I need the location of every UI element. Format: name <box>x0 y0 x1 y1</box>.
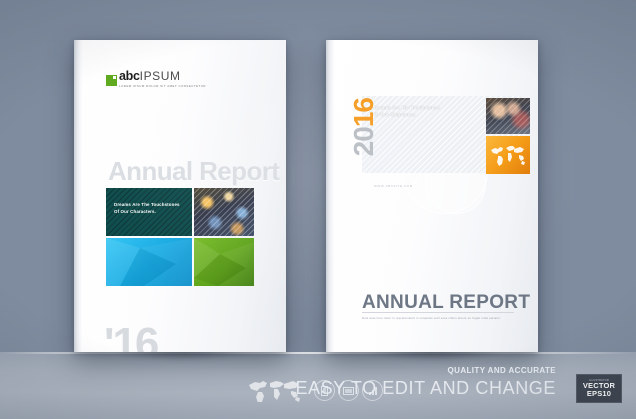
tile-caption-line1: Dreams Are The Touchstones <box>114 202 186 209</box>
cyan-polygon-tile[interactable] <box>106 238 192 286</box>
logo-wordmark: abcIPSUM LOREM IPSUM DOLOR SIT AMET CONS… <box>119 68 206 88</box>
tile-caption-line2: Of Our Characters. <box>114 209 186 216</box>
brand-logo: abcIPSUM LOREM IPSUM DOLOR SIT AMET CONS… <box>106 68 206 88</box>
left-cover-title: Annual Report <box>108 156 279 187</box>
banner-line-2: EASY TO EDIT AND CHANGE <box>295 378 556 399</box>
right-caption-line1: Dreams Are The Touchstones <box>374 104 456 111</box>
people-photo-tile[interactable] <box>486 98 530 134</box>
left-cover-year-mark: '16 <box>104 322 157 352</box>
logo-name-light: IPSUM <box>140 69 181 83</box>
promo-banner: QUALITY AND ACCURATE EASY TO EDIT AND CH… <box>236 366 628 408</box>
left-cover-tile-grid: Dreams Are The Touchstones Of Our Charac… <box>106 188 254 286</box>
left-book-spine <box>74 40 83 352</box>
city-photo-tile[interactable] <box>194 188 254 236</box>
world-map-icon <box>486 136 530 174</box>
logo-mark-icon <box>106 75 117 86</box>
right-cover-face: 2016 Dreams Are The Touchstones Of Our C… <box>326 40 538 352</box>
polygon-pattern-icon <box>106 238 192 286</box>
orange-worldmap-tile[interactable] <box>486 136 530 174</box>
banner-line-1: QUALITY AND ACCURATE <box>448 366 556 375</box>
green-polygon-tile[interactable] <box>194 238 254 286</box>
left-cover-face: abcIPSUM LOREM IPSUM DOLOR SIT AMET CONS… <box>74 40 286 352</box>
tile-stripe-overlay <box>194 188 254 236</box>
right-cover-caption: Dreams Are The Touchstones Of Our Charac… <box>374 104 456 118</box>
right-book-spine <box>326 40 335 352</box>
logo-name-bold: abc <box>119 69 140 83</box>
year-prefix: 20 <box>348 127 379 156</box>
website-url: WWW.ABCSITE.COM <box>374 184 413 188</box>
right-cover-headline: ANNUAL REPORT <box>362 292 530 314</box>
tile-stripe-overlay <box>486 98 530 134</box>
logo-tagline: LOREM IPSUM DOLOR SIT AMET CONSECTETUR <box>119 85 206 88</box>
right-cover-book[interactable]: 2016 Dreams Are The Touchstones Of Our C… <box>326 40 538 352</box>
scene: abcIPSUM LOREM IPSUM DOLOR SIT AMET CONS… <box>0 0 636 419</box>
vector-eps-badge: ILLUSTRATOR VECTOR EPS10 <box>576 374 622 403</box>
left-cover-book[interactable]: abcIPSUM LOREM IPSUM DOLOR SIT AMET CONS… <box>74 40 286 352</box>
teal-caption-tile[interactable]: Dreams Are The Touchstones Of Our Charac… <box>106 188 192 236</box>
tile-caption: Dreams Are The Touchstones Of Our Charac… <box>114 202 186 216</box>
right-caption-line2: Of Our Characters. <box>374 111 456 118</box>
polygon-pattern-icon <box>194 238 254 286</box>
badge-bottom-label: EPS10 <box>587 390 611 398</box>
right-cover-subline: Duis aute irure dolor in reprehenderit i… <box>362 316 508 320</box>
